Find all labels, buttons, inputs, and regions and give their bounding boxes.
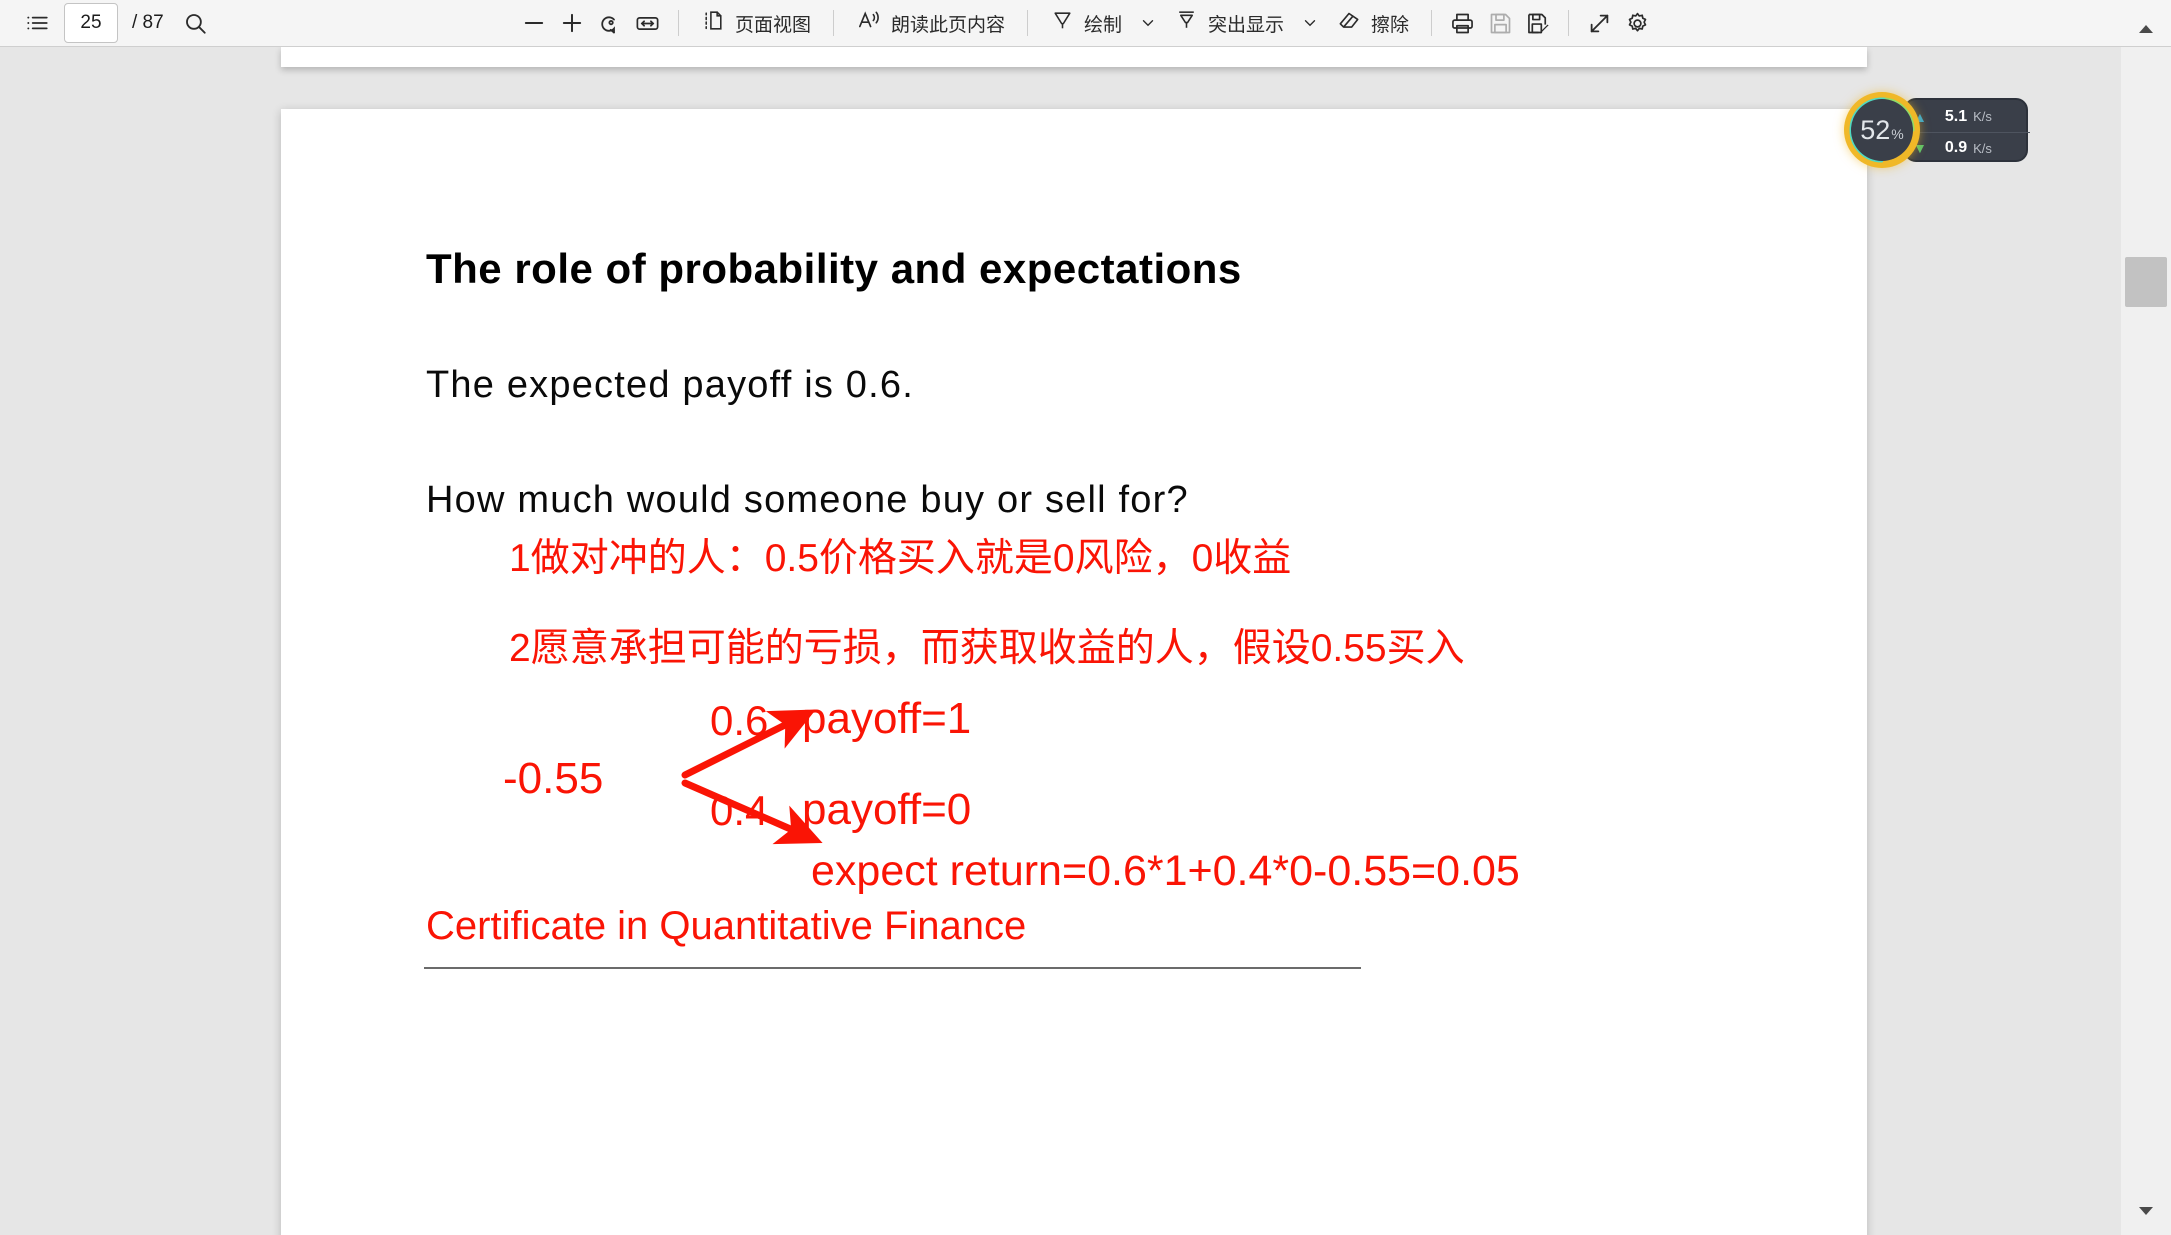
toolbar-divider (1431, 10, 1432, 36)
toolbar-center-group: 页面视图 朗读此页内容 绘制 (0, 4, 2171, 42)
zoom-in-button[interactable] (553, 4, 591, 42)
highlight-label: 突出显示 (1208, 10, 1284, 37)
scroll-down-triangle-down-icon[interactable] (2121, 1193, 2171, 1229)
settings-button[interactable] (1618, 4, 1656, 42)
scrollbar-thumb[interactable] (2125, 257, 2167, 307)
cpu-percent-value: 52 (1860, 99, 1890, 161)
save-as-button[interactable] (1519, 4, 1557, 42)
previous-page-sliver (281, 47, 1867, 67)
download-speed-unit: K/s (1973, 141, 1992, 156)
highlighter-icon (1174, 8, 1199, 39)
network-speed-panel: ▲ 5.1 K/s ▼ 0.9 K/s (1904, 98, 2028, 162)
eraser-icon (1336, 7, 1362, 39)
download-speed-value: 0.9 (1945, 139, 1967, 157)
read-aloud-button[interactable]: 朗读此页内容 (845, 4, 1016, 42)
read-aloud-icon (856, 7, 882, 39)
erase-label: 擦除 (1371, 10, 1409, 37)
download-speed-row: ▼ 0.9 K/s (1906, 132, 2030, 163)
toolbar-divider (678, 10, 679, 36)
upload-speed-value: 5.1 (1945, 108, 1967, 126)
slide-title: The role of probability and expectations (426, 245, 1242, 293)
pen-icon (1050, 8, 1075, 39)
erase-button[interactable]: 擦除 (1325, 4, 1420, 42)
fit-width-button[interactable] (629, 4, 667, 42)
page-view-label: 页面视图 (735, 10, 811, 37)
tree-branch-arrows (671, 679, 931, 869)
highlight-chevron-down-icon[interactable] (1295, 4, 1325, 42)
upload-speed-row: ▲ 5.1 K/s (1906, 101, 2030, 132)
annotation-note-2: 2愿意承担可能的亏损，而获取收益的人，假设0.55买入 (509, 617, 1465, 673)
expected-return-formula: expect return=0.6*1+0.4*0-0.55=0.05 (811, 847, 1520, 896)
vertical-scrollbar[interactable] (2121, 47, 2171, 1235)
network-monitor-widget[interactable]: ▲ 5.1 K/s ▼ 0.9 K/s 52 % (1844, 92, 2030, 168)
toolbar-divider (1568, 10, 1569, 36)
dial-inner: 52 % (1851, 99, 1913, 161)
annotation-note-1: 1做对冲的人：0.5价格买入就是0风险，0收益 (509, 527, 1291, 583)
zoom-out-button[interactable] (515, 4, 553, 42)
draw-label: 绘制 (1084, 10, 1122, 37)
page-view-button[interactable]: 页面视图 (690, 4, 822, 42)
toolbar-divider (1027, 10, 1028, 36)
page-view-icon (701, 8, 726, 39)
toolbar-divider (833, 10, 834, 36)
draw-chevron-down-icon[interactable] (1133, 4, 1163, 42)
cpu-percent-sign: % (1891, 126, 1903, 142)
draw-button[interactable]: 绘制 (1039, 4, 1133, 42)
slide-body-line-1: The expected payoff is 0.6. (426, 364, 914, 407)
rotate-button[interactable] (591, 4, 629, 42)
save-button[interactable] (1481, 4, 1519, 42)
scroll-up-triangle-up-icon[interactable] (2121, 11, 2171, 47)
highlight-button[interactable]: 突出显示 (1163, 4, 1295, 42)
slide-footer-text: Certificate in Quantitative Finance (426, 904, 1026, 949)
tree-root-label: -0.55 (503, 754, 603, 804)
pdf-toolbar: 25 / 87 (0, 0, 2171, 47)
pdf-viewer-area[interactable]: The role of probability and expectations… (0, 47, 2121, 1235)
fullscreen-button[interactable] (1580, 4, 1618, 42)
slide-footer-rule (424, 967, 1361, 969)
print-button[interactable] (1443, 4, 1481, 42)
read-aloud-label: 朗读此页内容 (891, 10, 1005, 37)
upload-speed-unit: K/s (1973, 109, 1992, 124)
slide-body-line-2: How much would someone buy or sell for? (426, 479, 1189, 522)
pdf-page-25: The role of probability and expectations… (281, 109, 1867, 1235)
cpu-usage-dial[interactable]: 52 % (1844, 92, 1920, 168)
